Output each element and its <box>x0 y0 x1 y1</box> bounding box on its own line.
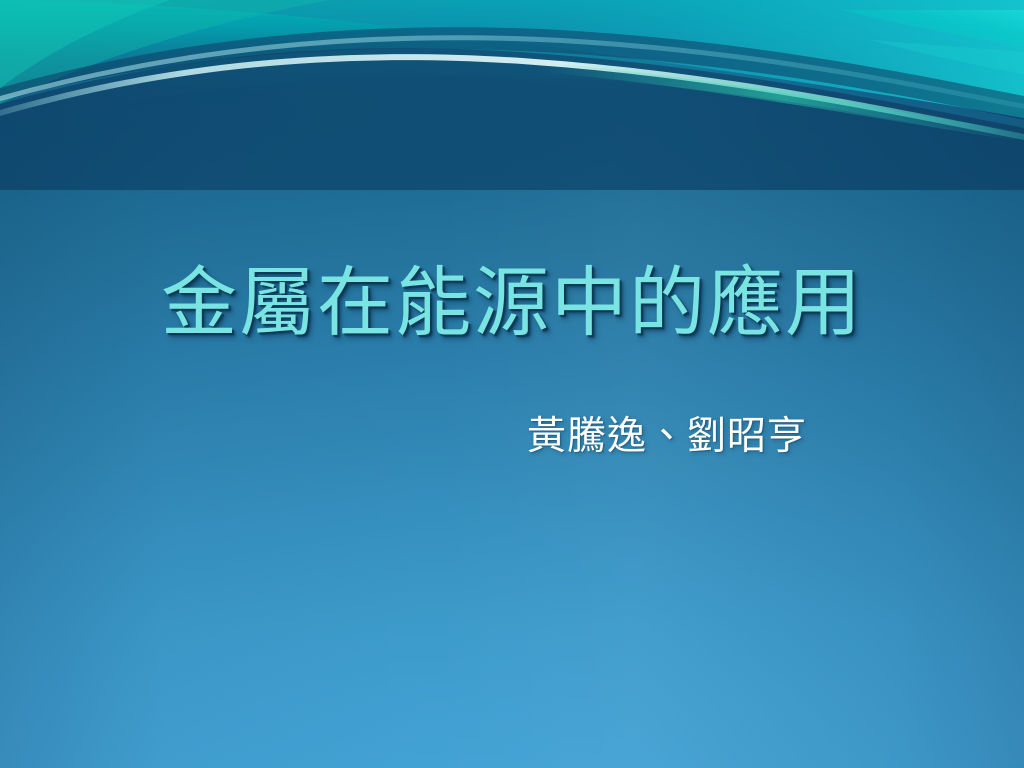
title-slide: 金屬在能源中的應用 黃騰逸、劉昭亨 <box>0 0 1024 768</box>
subtitle-block: 黃騰逸、劉昭亨 <box>0 414 1024 461</box>
background-wave-ribbons <box>0 0 1024 190</box>
title-block: 金屬在能源中的應用 <box>0 262 1024 344</box>
slide-subtitle-authors: 黃騰逸、劉昭亨 <box>527 414 807 461</box>
slide-title: 金屬在能源中的應用 <box>161 262 863 344</box>
